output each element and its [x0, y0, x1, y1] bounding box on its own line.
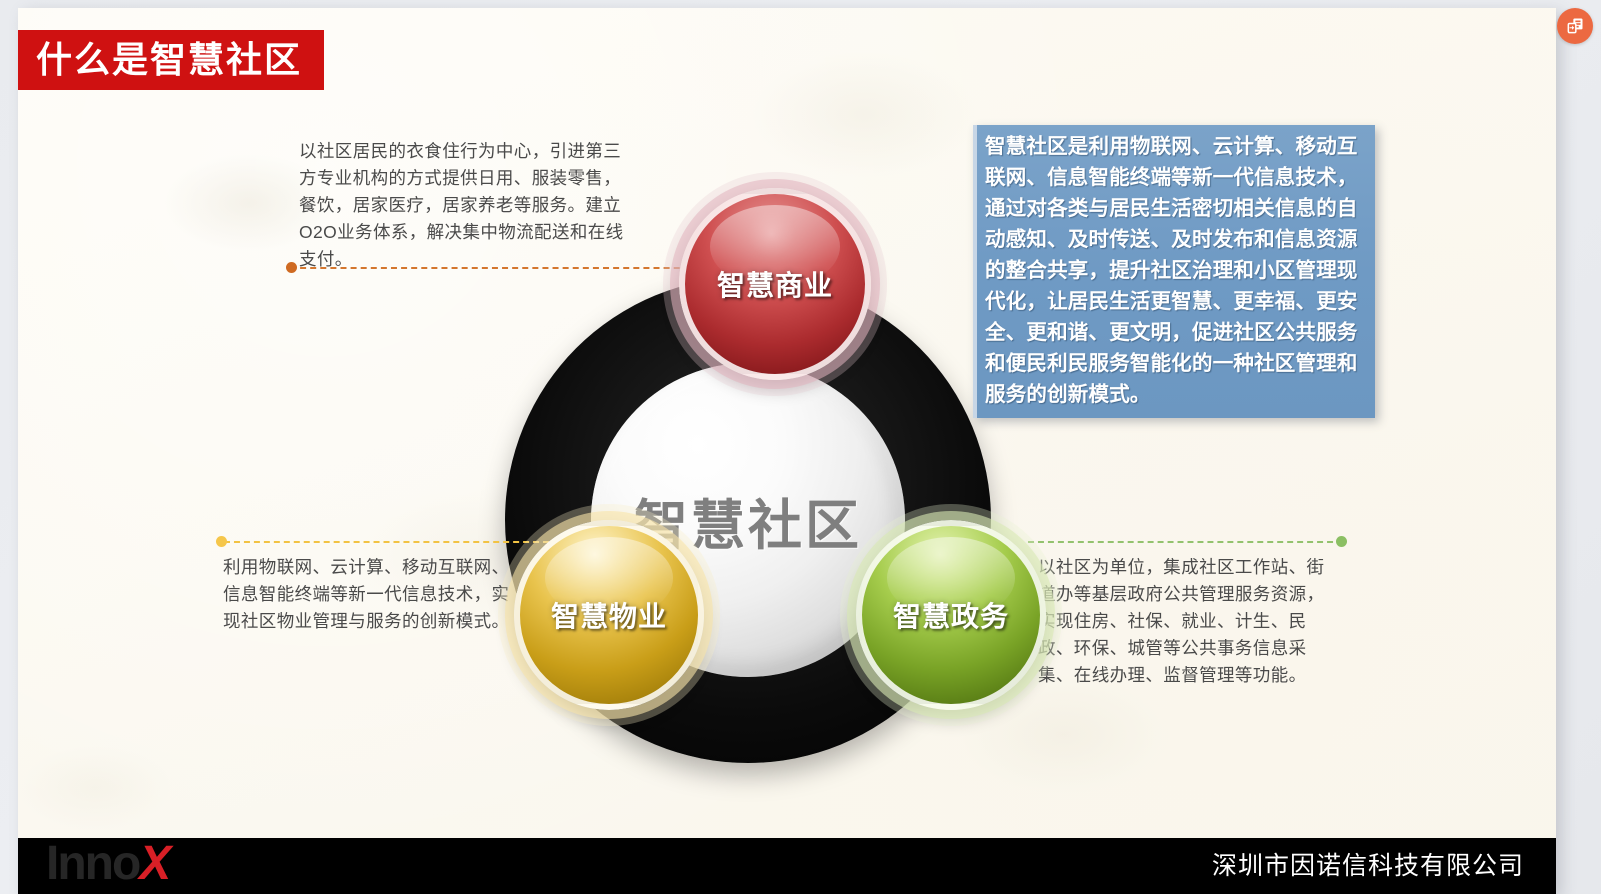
- diagram-node-commerce-label: 智慧商业: [717, 264, 833, 304]
- logo-text-accent: X: [139, 837, 169, 890]
- presentation-viewport: 什么是智慧社区 智慧社区 智慧商业: [0, 0, 1601, 894]
- description-commerce: 以社区居民的衣食住行为中心，引进第三方专业机构的方式提供日用、服装零售，餐饮，居…: [299, 138, 629, 273]
- definition-text: 智慧社区是利用物联网、云计算、移动互联网、信息智能终端等新一代信息技术，通过对各…: [985, 131, 1367, 410]
- description-government: 以社区为单位，集成社区工作站、街道办等基层政府公共管理服务资源，实现住房、社保、…: [1038, 554, 1338, 689]
- logo-text-primary: Inno: [46, 837, 139, 890]
- connector-dot-commerce-start: [286, 262, 297, 273]
- description-property: 利用物联网、云计算、移动互联网、信息智能终端等新一代信息技术，实现社区物业管理与…: [223, 554, 523, 635]
- diagram-node-government[interactable]: 智慧政务: [856, 520, 1046, 710]
- diagram-center-label: 智慧社区: [634, 481, 862, 560]
- diagram-node-property-label: 智慧物业: [551, 595, 667, 635]
- slide-title-banner: 什么是智慧社区: [18, 30, 324, 90]
- diagram-center-disc: 智慧社区: [591, 363, 905, 677]
- connector-line-government: [1028, 541, 1343, 543]
- convert-document-icon: [1565, 16, 1585, 36]
- diagram-outer-ring: [505, 277, 991, 763]
- connector-dot-property-start: [216, 536, 227, 547]
- slide-footer: InnoX 深圳市因诺信科技有限公司: [18, 838, 1556, 894]
- company-logo: InnoX: [46, 836, 169, 892]
- connector-dot-government-end: [1336, 536, 1347, 547]
- diagram-node-property[interactable]: 智慧物业: [514, 520, 704, 710]
- connector-line-property: [224, 541, 559, 543]
- connector-dot-commerce-end: [700, 262, 711, 273]
- page-title: 什么是智慧社区: [36, 42, 302, 78]
- sphere-gloss-highlight: [710, 205, 840, 288]
- diagram-node-government-label: 智慧政务: [893, 595, 1009, 635]
- definition-callout: 智慧社区是利用物联网、云计算、移动互联网、信息智能终端等新一代信息技术，通过对各…: [973, 125, 1375, 418]
- sphere-gloss-highlight: [887, 537, 1015, 619]
- sphere-gloss-highlight: [545, 537, 673, 619]
- footer-company-name: 深圳市因诺信科技有限公司: [1212, 838, 1524, 894]
- diagram-node-commerce[interactable]: 智慧商业: [679, 188, 871, 380]
- convert-document-badge[interactable]: [1557, 8, 1593, 44]
- slide-canvas: 什么是智慧社区 智慧社区 智慧商业: [18, 8, 1556, 894]
